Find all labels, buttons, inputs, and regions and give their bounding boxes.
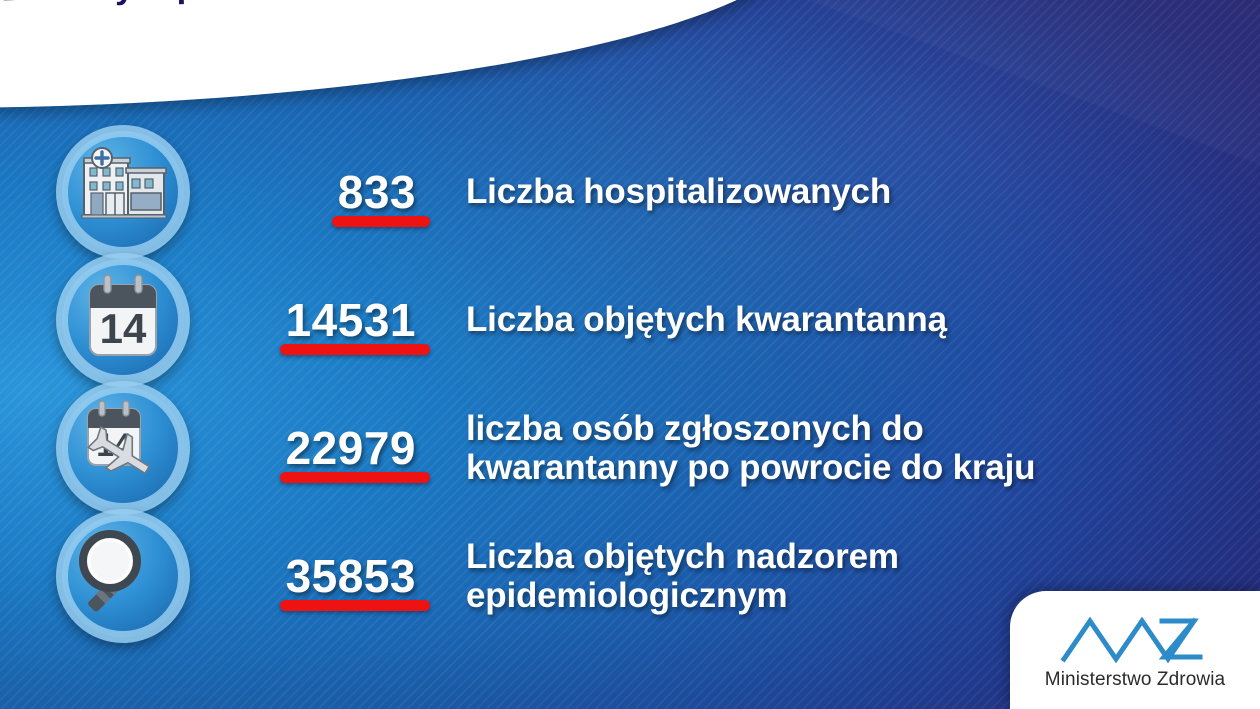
hospital-icon — [62, 131, 184, 253]
stat-row: 14 22979 liczba osób zgłoszonych do kwar… — [0, 384, 1260, 512]
value-container: 14531 — [198, 256, 428, 384]
stat-value: 14531 — [286, 294, 416, 346]
page-title: Dzienny raport o koronawirusie — [1, 0, 519, 9]
mz-zigzag-logo-icon — [1060, 613, 1210, 665]
stat-label-line2: kwarantanny po powrocie do kraju — [466, 448, 1260, 487]
icon-container — [48, 128, 198, 256]
value-container: 35853 — [198, 512, 428, 640]
label-container: liczba osób zgłoszonych do kwarantanny p… — [428, 384, 1260, 512]
stat-value: 22979 — [286, 422, 416, 474]
label-container: Liczba objętych kwarantanną — [428, 256, 1260, 384]
icon-container: 14 — [48, 256, 198, 384]
stat-label-line1: liczba osób zgłoszonych do — [466, 409, 1260, 448]
stat-label-line1: Liczba objętych nadzorem — [466, 537, 1260, 576]
stat-value: 35853 — [286, 550, 416, 602]
stat-label-line1: Liczba hospitalizowanych — [466, 172, 1260, 211]
stat-label-line1: Liczba objętych kwarantanną — [466, 300, 1260, 339]
stat-row: 14 14531 Liczba objętych kwarantanną — [0, 256, 1260, 384]
icon-container: 14 — [48, 384, 198, 512]
svg-text:14: 14 — [100, 305, 147, 352]
stats-list: 833 Liczba hospitalizowanych 14 — [0, 128, 1260, 640]
magnifier-icon — [62, 515, 184, 637]
value-container: 833 — [198, 128, 428, 256]
infographic-slide: Dzienny raport o koronawirusie — [0, 0, 1260, 709]
stat-row: 833 Liczba hospitalizowanych — [0, 128, 1260, 256]
calendar-airplane-icon: 14 — [62, 387, 184, 509]
value-container: 22979 — [198, 384, 428, 512]
ministry-logo-text: Ministerstwo Zdrowia — [1045, 669, 1225, 691]
label-container: Liczba hospitalizowanych — [428, 128, 1260, 256]
stat-value: 833 — [338, 166, 416, 218]
calendar-14-icon: 14 — [62, 259, 184, 381]
icon-container — [48, 512, 198, 640]
ministry-logo-panel: Ministerstwo Zdrowia — [1010, 591, 1260, 709]
